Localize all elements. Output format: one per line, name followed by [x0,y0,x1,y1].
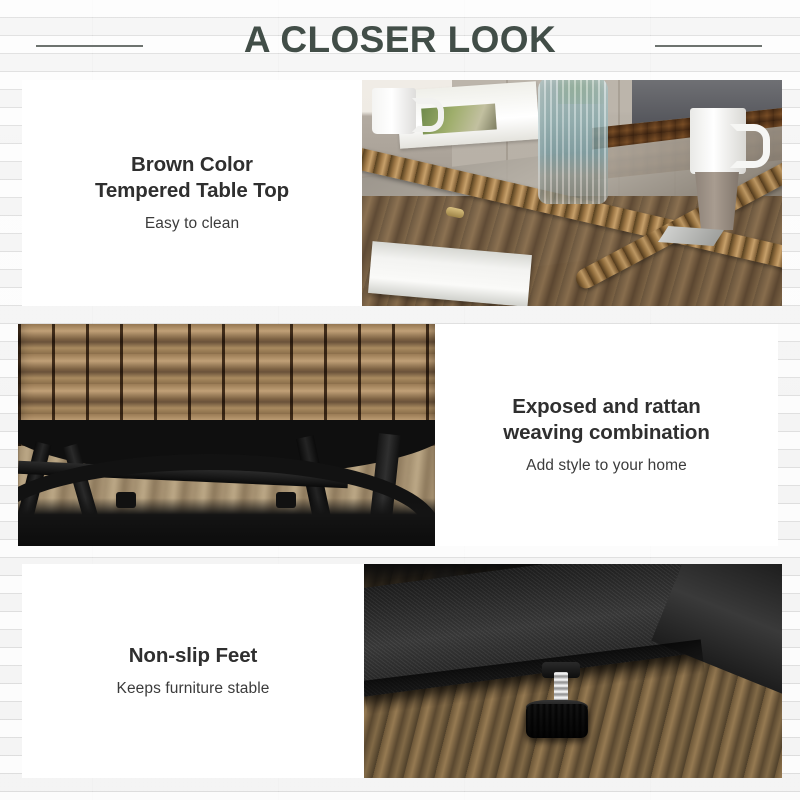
feature-heading: Brown Color Tempered Table Top [95,152,289,204]
product-infographic-poster: A CLOSER LOOK Brown Color Tempered Table… [0,0,800,800]
feature-text-panel-tempered-table-top: Brown Color Tempered Table Top Easy to c… [22,80,362,306]
non-slip-foot-knob [526,704,588,738]
feature-heading: Non-slip Feet [129,643,258,669]
feature-heading: Exposed and rattan weaving combination [503,394,710,446]
feature-row-tempered-table-top: Brown Color Tempered Table Top Easy to c… [22,80,782,306]
white-mug-right-handle [730,124,770,168]
glass-vase [538,80,608,204]
feature-row-non-slip-feet: Non-slip Feet Keeps furniture stable [22,564,782,778]
base-foot-left [116,492,136,508]
feature-photo-tempered-table-top [362,80,782,306]
page-title: A CLOSER LOOK [0,17,800,63]
feature-text-panel-rattan-weaving: Exposed and rattan weaving combination A… [435,324,778,546]
feature-subtext: Keeps furniture stable [117,679,270,699]
metal-base-plate [18,498,435,546]
base-foot-right [276,492,296,508]
glass-vase-ribs [538,80,608,204]
poster-header: A CLOSER LOOK [0,0,800,78]
feature-subtext: Add style to your home [526,456,687,476]
feature-subtext: Easy to clean [145,214,239,234]
feature-photo-non-slip-feet [364,564,782,778]
title-rule-right [655,45,762,47]
white-mug-left-handle [412,98,444,132]
white-mug-left [372,88,416,134]
feature-row-rattan-weaving: Exposed and rattan weaving combination A… [18,324,778,546]
feature-text-panel-non-slip-feet: Non-slip Feet Keeps furniture stable [22,564,364,778]
feature-photo-rattan-weaving [18,324,435,546]
